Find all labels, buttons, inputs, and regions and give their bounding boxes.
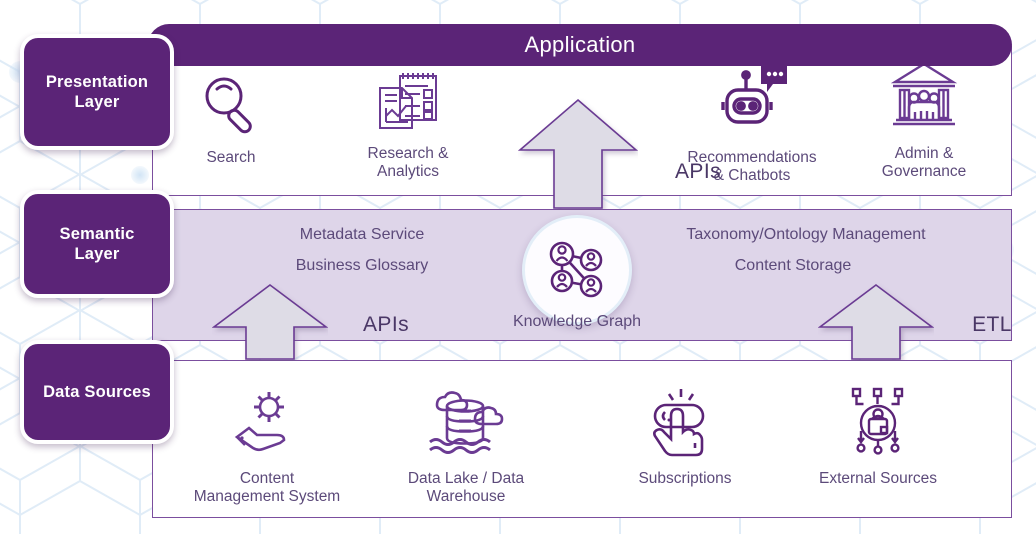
presentation-item-recommendations-chatbots[interactable]: Recommendations & Chatbots: [660, 58, 844, 186]
presentation-item-recommendations-line2: & Chatbots: [714, 167, 791, 185]
layer-chip-presentation-line1: Presentation: [46, 72, 148, 92]
data-source-subscriptions-label: Subscriptions: [638, 470, 731, 488]
presentation-item-admin-line1: Admin &: [895, 145, 954, 163]
knowledge-graph-node[interactable]: [522, 215, 632, 325]
presentation-item-search-label: Search: [206, 149, 255, 167]
data-source-cms-line2: Management System: [194, 488, 340, 506]
application-bar-title: Application: [525, 32, 636, 58]
knowledge-graph-circle: [522, 215, 632, 325]
layer-chip-semantic[interactable]: Semantic Layer: [20, 190, 174, 298]
semantic-label-taxonomy-ontology-management: Taxonomy/Ontology Management: [646, 226, 966, 244]
data-source-item-data-lake-warehouse[interactable]: Data Lake / Data Warehouse: [392, 385, 540, 507]
arrow-apis-semantic-to-presentation: APIs: [518, 98, 638, 210]
knowledge-graph-icon: [541, 234, 613, 306]
presentation-item-admin-line2: Governance: [882, 163, 966, 181]
data-source-lake-line1: Data Lake / Data: [408, 470, 524, 488]
data-source-lake-line2: Warehouse: [427, 488, 506, 506]
government-building-icon: [887, 58, 961, 139]
external-network-icon: [841, 385, 915, 464]
presentation-item-recommendations-line1: Recommendations: [687, 149, 816, 167]
hand-tap-toggle-icon: [647, 385, 723, 464]
semantic-label-business-glossary: Business Glossary: [283, 257, 441, 275]
diagram-canvas: Application Presentation Layer Semantic …: [0, 0, 1036, 534]
data-lake-icon: [425, 385, 507, 464]
data-source-external-label: External Sources: [819, 470, 937, 488]
layer-chip-data-sources-line1: Data Sources: [43, 382, 151, 402]
robot-chat-icon: [709, 58, 795, 143]
report-chart-icon: [372, 66, 444, 139]
layer-chip-presentation[interactable]: Presentation Layer: [20, 34, 174, 150]
data-source-cms-line1: Content: [240, 470, 294, 488]
presentation-item-research-analytics-line2: Analytics: [377, 163, 439, 181]
magnifier-icon: [198, 72, 264, 143]
presentation-item-admin-governance[interactable]: Admin & Governance: [855, 58, 993, 182]
semantic-label-content-storage: Content Storage: [711, 257, 875, 275]
knowledge-graph-caption: Knowledge Graph: [468, 313, 686, 331]
arrow-etl-datasources-to-semantic: ETL: [818, 283, 934, 361]
presentation-item-research-analytics-line1: Research &: [368, 145, 449, 163]
hand-gear-icon: [227, 385, 307, 464]
data-source-item-external-sources[interactable]: External Sources: [810, 385, 946, 488]
layer-chip-semantic-line1: Semantic: [60, 224, 135, 244]
data-source-item-content-management-system[interactable]: Content Management System: [196, 385, 338, 507]
presentation-item-research-analytics[interactable]: Research & Analytics: [344, 66, 472, 182]
layer-chip-semantic-line2: Layer: [60, 244, 135, 264]
layer-chip-presentation-line2: Layer: [46, 92, 148, 112]
semantic-label-metadata-service: Metadata Service: [287, 226, 437, 244]
data-source-item-subscriptions[interactable]: Subscriptions: [615, 385, 755, 488]
presentation-item-search[interactable]: Search: [176, 72, 286, 167]
arrow-apis-datasources-to-semantic: APIs: [212, 283, 328, 361]
layer-chip-data-sources[interactable]: Data Sources: [20, 340, 174, 444]
application-bar: Application: [148, 24, 1012, 66]
